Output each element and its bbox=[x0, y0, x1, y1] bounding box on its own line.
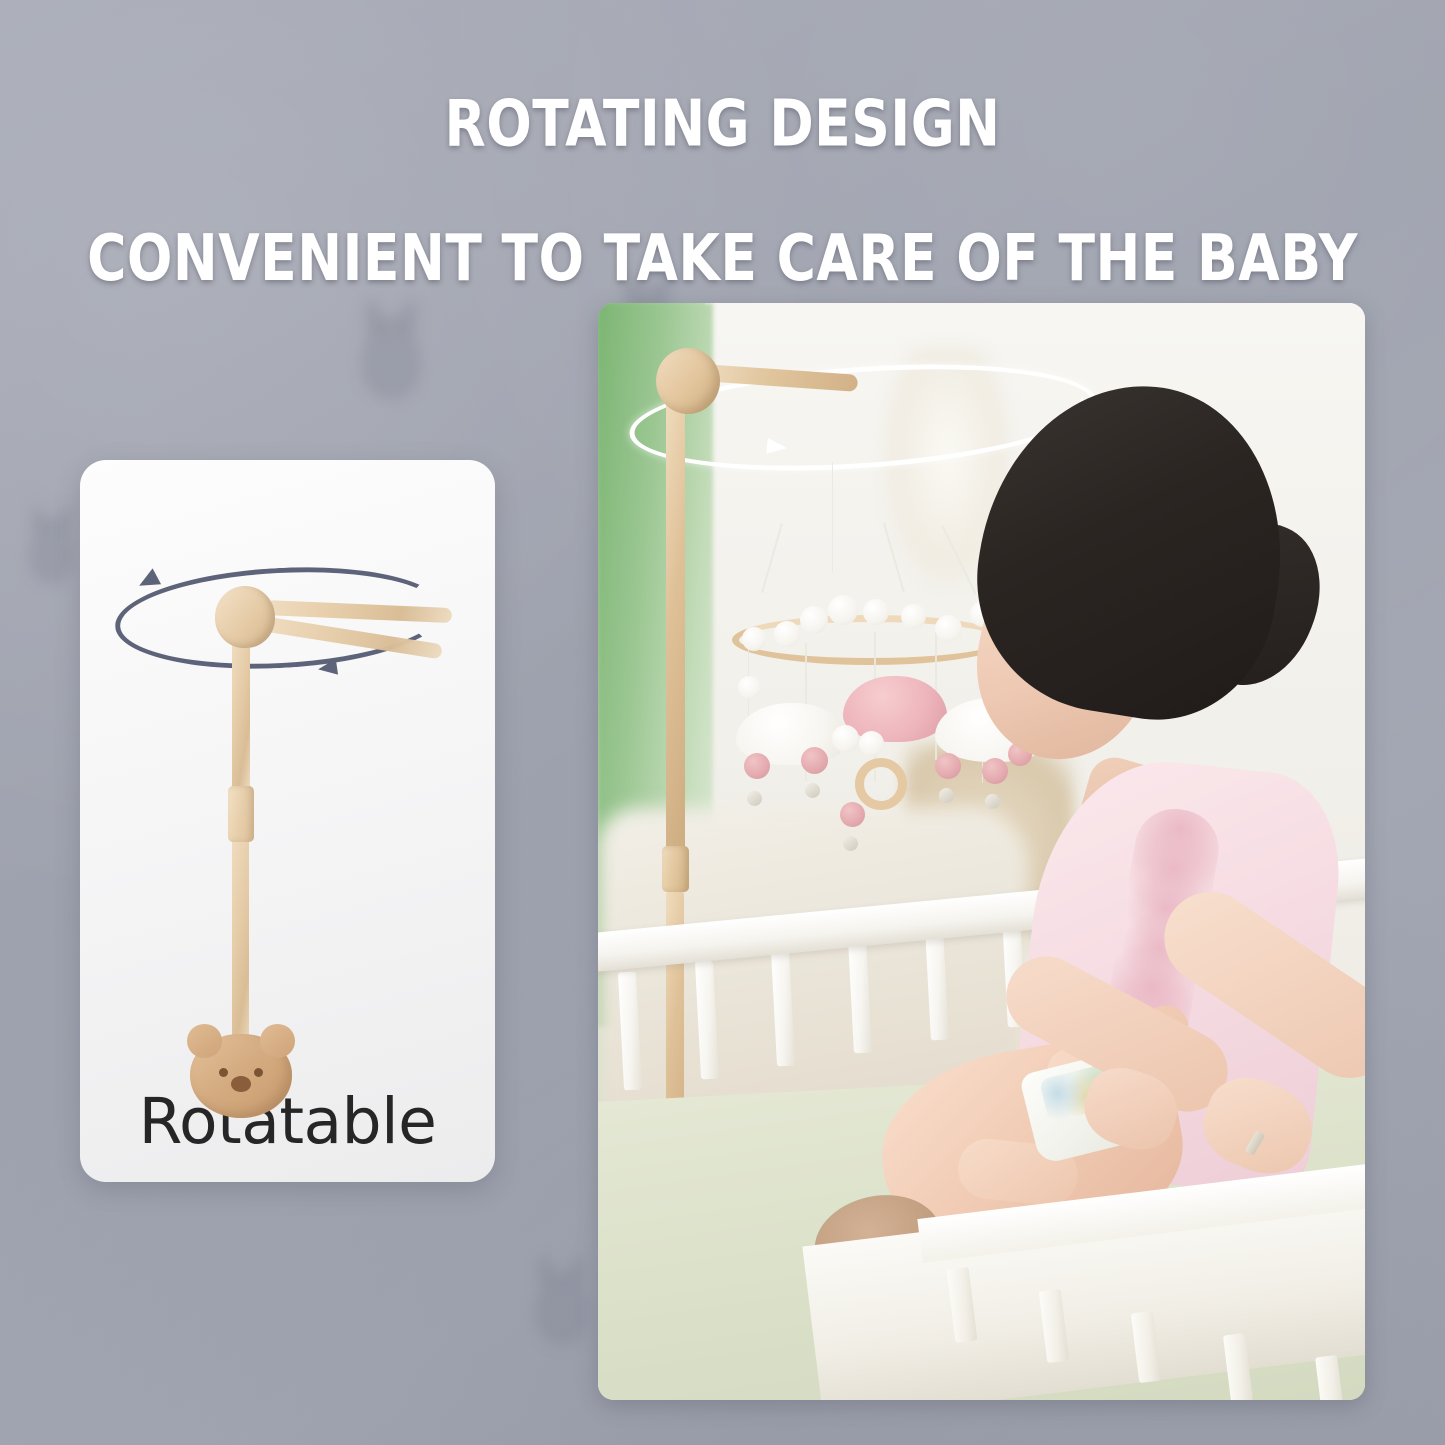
mobile-pole-upper bbox=[232, 642, 250, 792]
pom-pom-pink bbox=[982, 758, 1008, 784]
mobile-hub-icon bbox=[215, 586, 275, 648]
bear-ear-right bbox=[260, 1024, 295, 1058]
feature-card-label: Rotatable bbox=[80, 1085, 495, 1158]
bear-eye-left bbox=[219, 1068, 228, 1077]
bell-icon bbox=[747, 791, 762, 806]
lifestyle-photo bbox=[598, 303, 1365, 1400]
pom-pom-white bbox=[863, 599, 889, 625]
bell-icon bbox=[939, 788, 954, 803]
pom-pom-white bbox=[859, 731, 884, 756]
bear-eye-right bbox=[254, 1068, 263, 1077]
bear-silhouette-icon bbox=[29, 520, 75, 584]
rotation-arrow-right-icon bbox=[317, 659, 338, 677]
rotation-arrow-left-icon bbox=[766, 438, 788, 456]
pom-pom-pink bbox=[840, 802, 865, 827]
bear-ear-left bbox=[187, 1024, 222, 1058]
mobile-string bbox=[832, 462, 834, 572]
mobile-pole-upper bbox=[666, 396, 685, 866]
pom-pom-white bbox=[901, 604, 926, 629]
pom-pom-pink bbox=[744, 753, 770, 779]
headline-line-1: ROTATING DESIGN bbox=[43, 92, 1401, 159]
mobile-pole-joint bbox=[662, 846, 689, 892]
bear-face-icon bbox=[190, 1034, 292, 1118]
wooden-teething-ring bbox=[855, 758, 907, 810]
feature-card-rotatable: Rotatable bbox=[80, 460, 495, 1182]
mobile-hub-icon bbox=[656, 348, 720, 414]
bell-icon bbox=[985, 794, 1000, 809]
pom-pom-white bbox=[935, 615, 962, 642]
headline-line-2: CONVENIENT TO TAKE CARE OF THE BABY bbox=[43, 226, 1401, 293]
mobile-pole-lower bbox=[232, 836, 249, 1058]
pom-pom-white bbox=[828, 595, 858, 625]
pom-pom-white bbox=[738, 676, 761, 699]
bear-snout bbox=[231, 1076, 251, 1092]
bear-silhouette-icon bbox=[535, 1272, 589, 1346]
pom-pom-white bbox=[742, 627, 766, 651]
pom-pom-white bbox=[800, 606, 828, 634]
mobile-pole-joint bbox=[228, 786, 254, 842]
